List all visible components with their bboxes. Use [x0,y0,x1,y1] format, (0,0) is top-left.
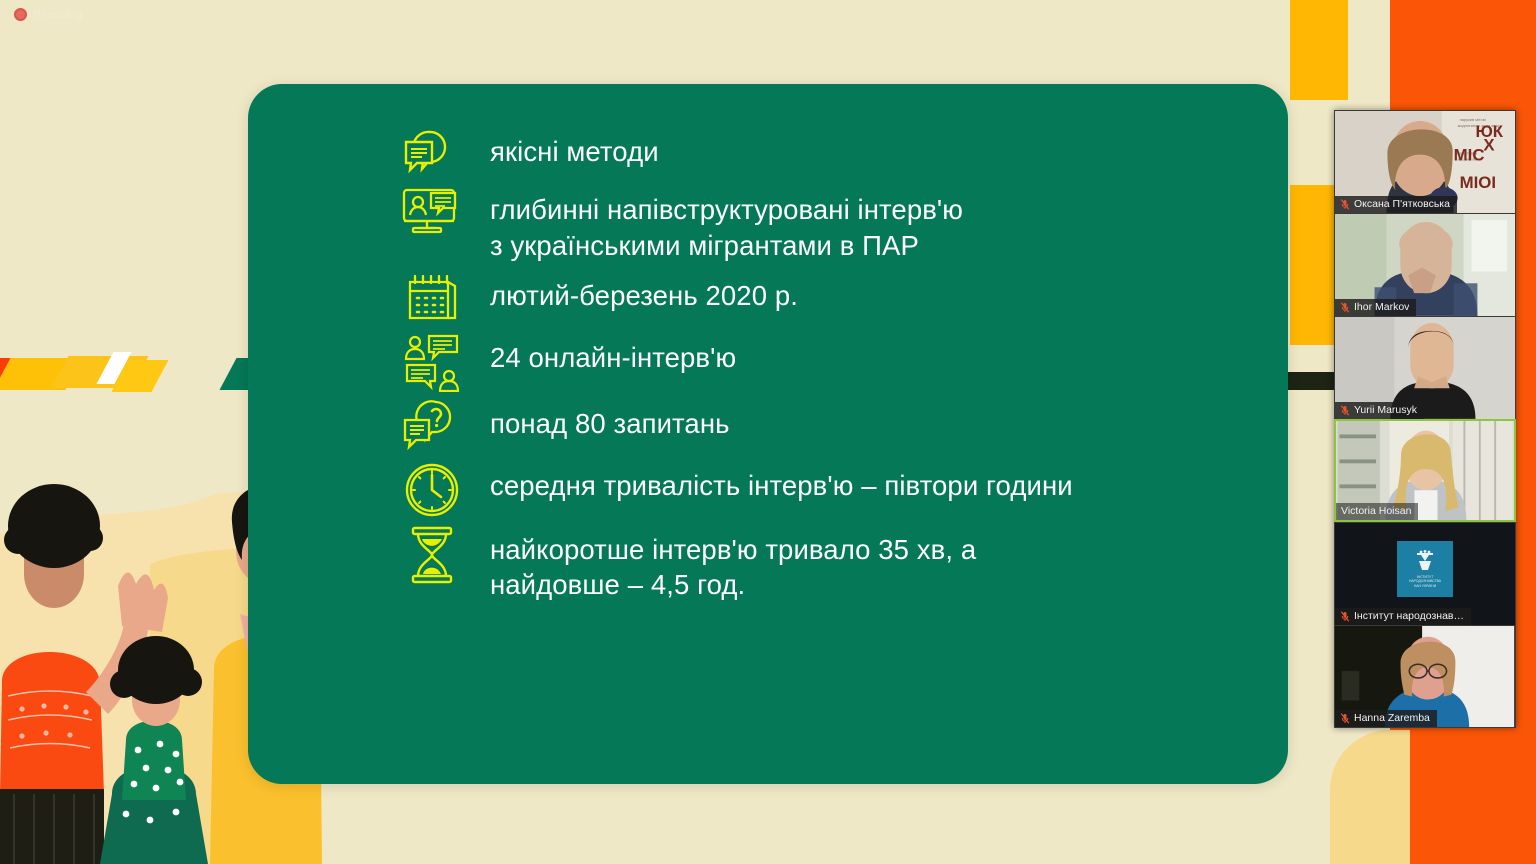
question-bubble-icon [400,400,464,454]
participant-tile[interactable]: Victoria Hoisan [1334,419,1516,522]
participant-name: Ihor Markov [1354,301,1409,313]
participant-name-badge: Hanna Zaremba [1335,710,1437,727]
participant-tile[interactable]: ІНСТИТУТНАРОДОЗНАВСТВАНАН УКРАЇНИ Інстит… [1334,522,1516,625]
slide-bullet-text: якісні методи [490,128,659,170]
participant-name-badge: Ihor Markov [1335,299,1416,316]
slide-bullet-text: найкоротше інтерв'ю тривало 35 хв, а най… [490,526,976,604]
participant-tile[interactable]: Hanna Zaremba [1334,625,1516,728]
recording-label: Recording [33,9,83,21]
participant-name-badge: Victoria Hoisan [1336,503,1418,520]
screen-root: Recording якісні методи глибинні напівст… [0,0,1536,864]
slide-bullet: глибинні напівструктуровані інтерв'ю з у… [400,186,1258,264]
participant-tile[interactable]: Yurii Marusyk [1334,316,1516,419]
participant-name: Victoria Hoisan [1341,505,1411,517]
participant-name-badge: Оксана П'ятковська [1335,196,1457,213]
two-person-interview-icon [400,334,464,392]
svg-text:MIOI: MIOI [1460,173,1496,192]
online-interview-monitor-icon [400,186,464,236]
participant-filmstrip[interactable]: нарукив мiтовiжоднотина є вони як цр iна… [1334,110,1516,728]
participant-name: Оксана П'ятковська [1354,198,1450,210]
microphone-muted-icon [1340,611,1350,622]
microphone-muted-icon [1340,713,1350,724]
presentation-slide: якісні методи глибинні напівструктурован… [248,84,1288,784]
hourglass-icon [400,526,464,584]
record-dot-icon [14,8,27,21]
participant-name-badge: Інститут народознав… [1335,608,1471,625]
slide-bullet: найкоротше інтерв'ю тривало 35 хв, а най… [400,526,1258,604]
clock-icon [400,462,464,518]
participant-name-badge: Yurii Marusyk [1335,402,1424,419]
participant-tile[interactable]: нарукив мiтовiжоднотина є вони як цр iна… [1334,110,1516,213]
calendar-icon [400,272,464,326]
recording-indicator: Recording [14,8,83,21]
participant-name: Yurii Marusyk [1354,404,1417,416]
microphone-muted-icon [1340,405,1350,416]
slide-bullet: понад 80 запитань [400,400,1258,454]
slide-bullet-list: якісні методи глибинні напівструктурован… [400,128,1258,611]
slide-bullet-text: 24 онлайн-інтерв'ю [490,334,736,376]
slide-bullet: лютий-березень 2020 р. [400,272,1258,326]
speech-bubbles-icon [400,128,464,178]
slide-bullet-text: середня тривалість інтерв'ю – півтори го… [490,462,1073,504]
slide-bullet: середня тривалість інтерв'ю – півтори го… [400,462,1258,518]
slide-bullet: якісні методи [400,128,1258,178]
slide-bullet-text: понад 80 запитань [490,400,730,442]
microphone-muted-icon [1340,199,1350,210]
svg-text:MIC: MIC [1454,146,1485,165]
slide-bullet: 24 онлайн-інтерв'ю [400,334,1258,392]
participant-tile[interactable]: Ihor Markov [1334,213,1516,316]
slide-bullet-text: глибинні напівструктуровані інтерв'ю з у… [490,186,963,264]
slide-bullet-text: лютий-березень 2020 р. [490,272,798,314]
decor-bar-yellow-top [1290,0,1348,100]
participant-name: Hanna Zaremba [1354,712,1430,724]
decor-glow [1330,730,1410,864]
microphone-muted-icon [1340,302,1350,313]
participant-name: Інститут народознав… [1354,610,1464,622]
svg-text:X: X [1483,136,1495,155]
